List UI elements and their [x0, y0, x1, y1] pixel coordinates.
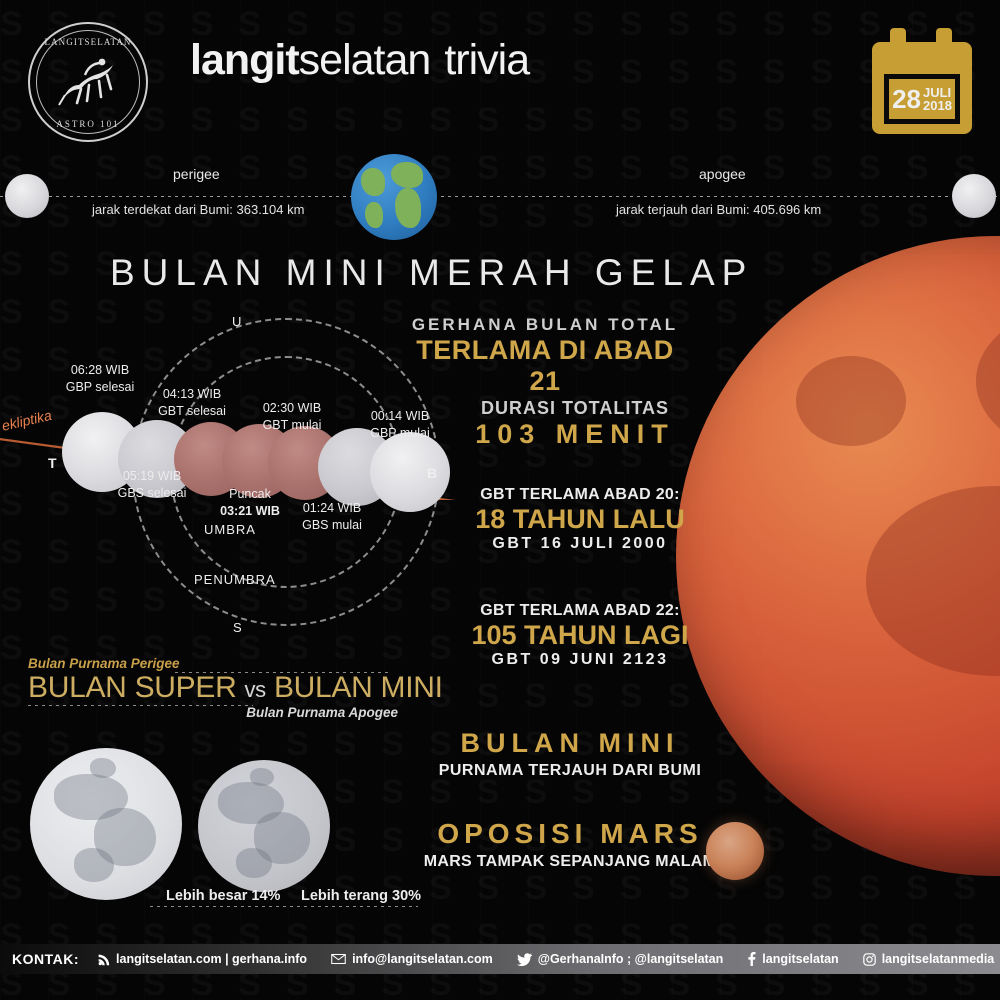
- duration-value: 103 MENIT: [430, 419, 720, 450]
- stat-brightness-label: Lebih terang 30%: [301, 888, 421, 904]
- fact-mars-opposition: OPOSISI MARS MARS TAMPAK SEPANJANG MALAM: [420, 818, 720, 871]
- diagram-label-penumbra: PENUMBRA: [194, 572, 276, 587]
- footer-email-text: info@langitselatan.com: [352, 952, 493, 966]
- moon-mare: [976, 306, 1000, 456]
- diagram-label-umbra: UMBRA: [204, 522, 256, 537]
- footer-item-instagram[interactable]: langitselatanmedia: [863, 952, 995, 966]
- century20-value: 18 TAHUN LALU: [440, 504, 720, 535]
- comparison-vs: vs: [244, 677, 265, 702]
- century20-date: GBT 16 JULI 2000: [440, 535, 720, 553]
- twitter-icon: [517, 953, 532, 966]
- comparison-title-b: BULAN MINI: [274, 671, 443, 704]
- event-time: 02:30 WIB: [232, 400, 352, 417]
- comparison-title: BULAN SUPER vs BULAN MINI: [28, 671, 398, 705]
- earth-landmass: [391, 162, 423, 188]
- moon-mare: [250, 768, 274, 786]
- footer-item-facebook[interactable]: langitselatan: [747, 952, 838, 966]
- calendar-date-screen: 28 JULI 2018: [884, 74, 960, 124]
- peak-time: 03:21 WIB: [190, 503, 310, 520]
- horse-rider-logo-icon: [55, 55, 121, 109]
- email-icon: [331, 953, 346, 965]
- event-name: GBT mulai: [232, 417, 352, 434]
- duration-kicker: DURASI TOTALITAS: [430, 398, 720, 419]
- calendar-month-year: JULI 2018: [923, 86, 952, 112]
- footer-item-twitter[interactable]: @GerhanaInfo ; @langitselatan: [517, 952, 724, 966]
- mars-subtitle: MARS TAMPAK SEPANJANG MALAM: [420, 853, 720, 871]
- fact-mini-moon: BULAN MINI PURNAMA TERJAUH DARI BUMI: [420, 728, 720, 780]
- moon-mare: [866, 486, 1000, 676]
- event-time: 06:28 WIB: [40, 362, 160, 379]
- full-moon-large-icon: [30, 748, 182, 900]
- peak-label: Puncak: [190, 486, 310, 503]
- mars-planet-icon: [706, 822, 764, 880]
- diagram-label-south: S: [233, 620, 242, 635]
- apogee-caption: Bulan Purnama Apogee: [28, 705, 398, 720]
- fact-totality-duration: DURASI TOTALITAS 103 MENIT: [430, 398, 720, 450]
- earth-landmass: [395, 188, 421, 228]
- event-puncak: Puncak 03:21 WIB: [190, 486, 310, 520]
- century20-heading: GBT TERLAMA ABAD 20:: [440, 486, 720, 504]
- mars-title: OPOSISI MARS: [420, 818, 720, 850]
- footer-item-website[interactable]: langitselatan.com | gerhana.info: [97, 952, 307, 966]
- calendar-body: 28 JULI 2018: [872, 42, 972, 134]
- event-time: 05:19 WIB: [92, 468, 212, 485]
- fact-longest-century21: GERHANA BULAN TOTAL TERLAMA DI ABAD 21: [400, 315, 690, 397]
- moon-mare: [236, 848, 272, 878]
- footer-twitter-text: @GerhanaInfo ; @langitselatan: [538, 952, 724, 966]
- diagram-label-west: T: [48, 455, 57, 471]
- footer-facebook-text: langitselatan: [762, 952, 838, 966]
- century22-date: GBT 09 JUNI 2123: [440, 651, 720, 669]
- contact-footer: KONTAK: langitselatan.com | gerhana.info…: [0, 944, 1000, 974]
- perigee-caption: Bulan Purnama Perigee: [28, 656, 398, 671]
- fact-century-22: GBT TERLAMA ABAD 22: 105 TAHUN LAGI GBT …: [440, 602, 720, 669]
- event-gbt-mulai: 02:30 WIB GBT mulai: [232, 400, 352, 434]
- brand-langit: langit: [190, 36, 299, 84]
- moon-icon-apogee: [952, 174, 996, 218]
- gbt-headline: TERLAMA DI ABAD 21: [400, 335, 690, 397]
- calendar-icon: 28 JULI 2018: [872, 28, 972, 134]
- logo-top-text: LANGITSELATAN: [30, 37, 146, 47]
- apogee-label: apogee: [699, 166, 746, 182]
- kontak-label: KONTAK:: [12, 951, 79, 967]
- super-vs-mini-heading: Bulan Purnama Perigee BULAN SUPER vs BUL…: [28, 656, 398, 720]
- perigee-label: perigee: [173, 166, 220, 182]
- moon-mare: [90, 758, 116, 778]
- infographic-page: SSSSSSSSSSSSSSSSSSSSSSSSSSSSSSSSSSSSSSSS…: [0, 0, 1000, 1000]
- comparison-stat-rule: [150, 906, 418, 907]
- gbt-kicker: GERHANA BULAN TOTAL: [400, 315, 690, 335]
- earth-landmass: [361, 168, 385, 196]
- diagram-label-east: B: [427, 465, 437, 481]
- moon-mare: [74, 848, 114, 882]
- mini-moon-title: BULAN MINI: [420, 728, 720, 759]
- comparison-title-a: BULAN SUPER: [28, 671, 236, 704]
- facebook-icon: [747, 952, 756, 966]
- apogee-distance: jarak terjauh dari Bumi: 405.696 km: [616, 202, 821, 217]
- brand-title: langitselatantrivia: [190, 36, 529, 85]
- perigee-distance: jarak terdekat dari Bumi: 363.104 km: [92, 202, 304, 217]
- earth-icon: [351, 154, 437, 240]
- mini-moon-subtitle: PURNAMA TERJAUH DARI BUMI: [420, 762, 720, 780]
- century22-value: 105 TAHUN LAGI: [440, 620, 720, 651]
- footer-item-email[interactable]: info@langitselatan.com: [331, 952, 493, 966]
- brand-selatan: selatan: [299, 36, 431, 84]
- logo-bottom-text: ASTRO 101: [30, 119, 146, 129]
- langitselatan-logo: LANGITSELATAN ASTRO 101: [28, 22, 148, 142]
- stat-size-label: Lebih besar 14%: [166, 888, 280, 904]
- page-title: BULAN MINI MERAH GELAP: [110, 252, 753, 294]
- diagram-label-north: U: [232, 314, 241, 329]
- fact-century-20: GBT TERLAMA ABAD 20: 18 TAHUN LALU GBT 1…: [440, 486, 720, 553]
- calendar-day: 28: [892, 86, 921, 112]
- earth-landmass: [365, 202, 383, 228]
- footer-website-text: langitselatan.com | gerhana.info: [116, 952, 307, 966]
- moon-mare: [796, 356, 906, 446]
- calendar-year: 2018: [923, 99, 952, 112]
- brand-trivia: trivia: [444, 36, 529, 84]
- orbit-distance-line: [0, 196, 1000, 197]
- moon-icon-perigee: [5, 174, 49, 218]
- watermark-row: SSSSSSSSSSSSSSSSSSSSSSSSSSSSSSSSSS: [0, 144, 1000, 192]
- footer-instagram-text: langitselatanmedia: [882, 952, 995, 966]
- rss-icon: [97, 953, 110, 966]
- century22-heading: GBT TERLAMA ABAD 22:: [440, 602, 720, 620]
- watermark-row: SSSSSSSSSSSSSSSSSSSSSSSSSSSSSSSSSS: [0, 96, 1000, 144]
- full-moon-small-icon: [198, 760, 330, 892]
- instagram-icon: [863, 953, 876, 966]
